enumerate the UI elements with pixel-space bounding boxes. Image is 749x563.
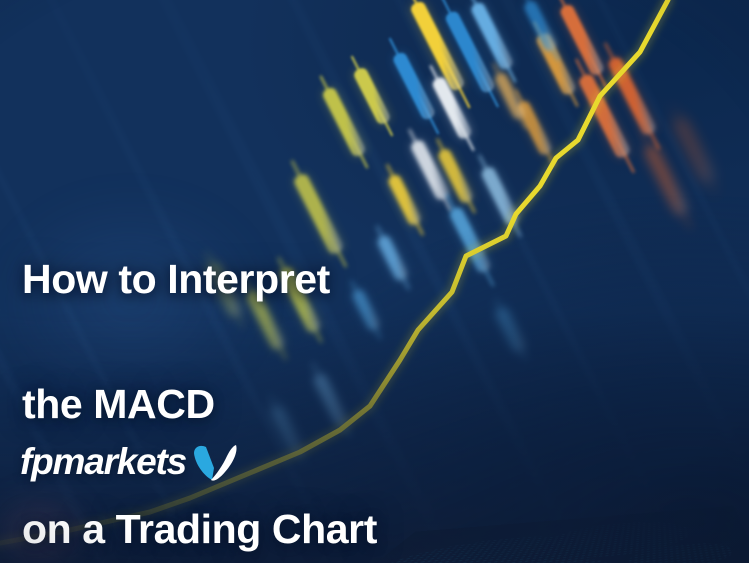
page-title-line-2: the MACD: [22, 373, 377, 435]
brand-wordmark: fpmarkets: [20, 441, 186, 483]
page-title-line-1: How to Interpret: [22, 248, 377, 310]
banner-canvas: How to Interpret the MACD on a Trading C…: [0, 0, 749, 563]
page-title: How to Interpret the MACD on a Trading C…: [22, 186, 377, 563]
swoosh-checkmark-icon: [192, 442, 240, 484]
page-title-line-3: on a Trading Chart: [22, 498, 377, 560]
brand-logo[interactable]: fpmarkets: [20, 440, 240, 484]
